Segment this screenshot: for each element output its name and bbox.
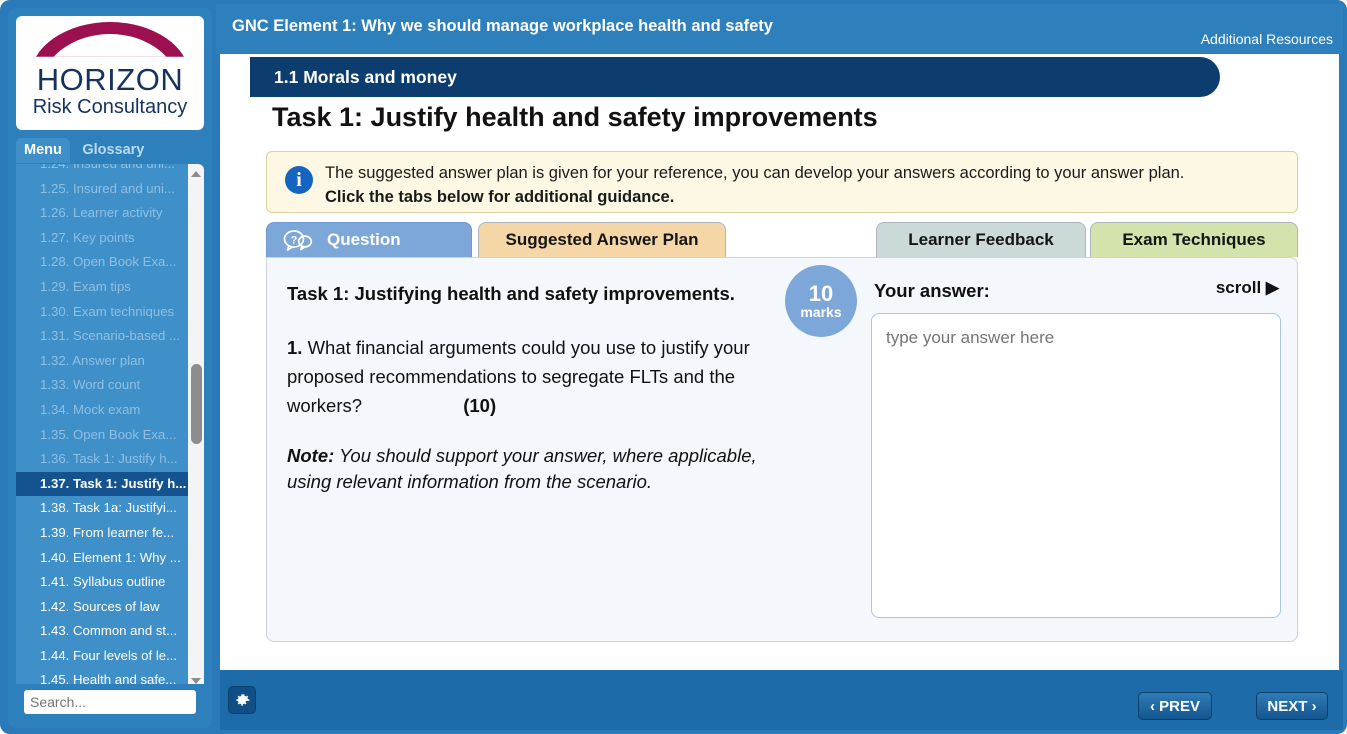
sidebar-menu-list: 1.24. Insured and uni...1.25. Insured an… [16, 164, 188, 679]
sidebar-tab-glossary[interactable]: Glossary [74, 138, 152, 163]
question-text-block: 1. What financial arguments could you us… [287, 333, 797, 420]
question-note: Note: You should support your answer, wh… [287, 443, 802, 495]
app-header: GNC Element 1: Why we should manage work… [216, 4, 1343, 54]
sidebar-item[interactable]: 1.31. Scenario-based ... [16, 324, 188, 349]
sidebar-nav-tabs: Menu Glossary [16, 138, 204, 164]
tab-question[interactable]: ? Question [266, 222, 472, 257]
info-banner-line2: Click the tabs below for additional guid… [325, 188, 674, 207]
info-icon: i [285, 166, 313, 194]
question-note-label: Note: [287, 445, 334, 466]
sidebar: HORIZON Risk Consultancy Menu Glossary 1… [8, 8, 212, 728]
section-label: 1.1 Morals and money [274, 67, 457, 88]
question-bubble-icon: ? [283, 228, 313, 252]
course-title: GNC Element 1: Why we should manage work… [232, 17, 773, 36]
sidebar-item[interactable]: 1.28. Open Book Exa... [16, 250, 188, 275]
sidebar-item[interactable]: 1.32. Answer plan [16, 349, 188, 374]
scroll-label: scroll [1216, 278, 1261, 297]
next-button[interactable]: NEXT › [1256, 692, 1328, 720]
scroll-up-arrow-icon[interactable] [188, 166, 204, 182]
brand-name: HORIZON [16, 62, 204, 98]
sidebar-item[interactable]: 1.25. Insured and uni... [16, 177, 188, 202]
search-input[interactable] [24, 690, 196, 714]
sidebar-item[interactable]: 1.36. Task 1: Justify h... [16, 447, 188, 472]
sidebar-item[interactable]: 1.42. Sources of law [16, 595, 188, 620]
additional-resources-link[interactable]: Additional Resources [1201, 31, 1333, 47]
sidebar-search-area [16, 684, 204, 720]
chevron-right-icon: ▶ [1266, 278, 1279, 297]
question-text: What financial arguments could you use t… [287, 337, 750, 416]
tab-exam-techniques[interactable]: Exam Techniques [1090, 222, 1298, 257]
sidebar-item[interactable]: 1.44. Four levels of le... [16, 644, 188, 669]
search-box [24, 690, 196, 714]
sidebar-item[interactable]: 1.41. Syllabus outline [16, 570, 188, 595]
sidebar-item[interactable]: 1.38. Task 1a: Justifyi... [16, 496, 188, 521]
answer-input[interactable] [871, 313, 1281, 618]
answer-label: Your answer: [874, 280, 990, 302]
question-note-text: You should support your answer, where ap… [287, 445, 757, 492]
sidebar-item[interactable]: 1.29. Exam tips [16, 275, 188, 300]
sidebar-item[interactable]: 1.30. Exam techniques [16, 300, 188, 325]
section-breadcrumb-bar: 1.1 Morals and money [250, 57, 1220, 97]
tab-question-label: Question [327, 230, 401, 250]
sidebar-item[interactable]: 1.40. Element 1: Why ... [16, 546, 188, 571]
sidebar-item[interactable]: 1.35. Open Book Exa... [16, 423, 188, 448]
tab-learner-feedback-label: Learner Feedback [908, 230, 1054, 250]
sidebar-item[interactable]: 1.33. Word count [16, 373, 188, 398]
sidebar-item[interactable]: 1.34. Mock exam [16, 398, 188, 423]
info-banner-line1: The suggested answer plan is given for y… [325, 164, 1184, 183]
tab-answer-plan-label: Suggested Answer Plan [505, 230, 698, 250]
sidebar-item[interactable]: 1.26. Learner activity [16, 201, 188, 226]
content-tab-strip: ? Question Suggested Answer Plan Learner… [266, 222, 1298, 257]
info-banner: i The suggested answer plan is given for… [266, 151, 1298, 213]
question-heading: Task 1: Justifying health and safety imp… [287, 283, 797, 305]
sidebar-item[interactable]: 1.24. Insured and uni... [16, 164, 188, 177]
content-area: 1.1 Morals and money Task 1: Justify hea… [220, 54, 1339, 674]
sidebar-item[interactable]: 1.39. From learner fe... [16, 521, 188, 546]
scroll-control[interactable]: scroll ▶ [1216, 278, 1279, 298]
marks-value: 10 [809, 282, 833, 305]
sidebar-item[interactable]: 1.27. Key points [16, 226, 188, 251]
sidebar-item[interactable]: 1.43. Common and st... [16, 619, 188, 644]
sidebar-tab-menu[interactable]: Menu [16, 138, 70, 163]
tab-learner-feedback[interactable]: Learner Feedback [876, 222, 1086, 257]
question-inline-marks: (10) [463, 395, 496, 416]
sidebar-item[interactable]: 1.37. Task 1: Justify h... [16, 472, 188, 497]
tab-suggested-answer-plan[interactable]: Suggested Answer Plan [478, 222, 726, 257]
question-number: 1. [287, 337, 302, 358]
sidebar-scrollbar[interactable] [188, 164, 204, 691]
marks-unit: marks [800, 305, 841, 320]
sidebar-menu-panel: 1.24. Insured and uni...1.25. Insured an… [16, 164, 204, 691]
page-title: Task 1: Justify health and safety improv… [272, 102, 878, 133]
brand-subtitle: Risk Consultancy [16, 96, 204, 119]
brand-logo: HORIZON Risk Consultancy [16, 16, 204, 130]
question-panel: Task 1: Justifying health and safety imp… [266, 257, 1298, 642]
gear-icon[interactable] [228, 686, 256, 714]
tab-exam-techniques-label: Exam Techniques [1122, 230, 1265, 250]
prev-button[interactable]: ‹ PREV [1138, 692, 1212, 720]
scrollbar-thumb[interactable] [191, 364, 202, 444]
svg-text:?: ? [291, 235, 298, 247]
elearning-app-window: HORIZON Risk Consultancy Menu Glossary 1… [0, 0, 1347, 734]
marks-badge: 10 marks [785, 265, 857, 337]
app-footer: ‹ PREV NEXT › [220, 670, 1343, 730]
